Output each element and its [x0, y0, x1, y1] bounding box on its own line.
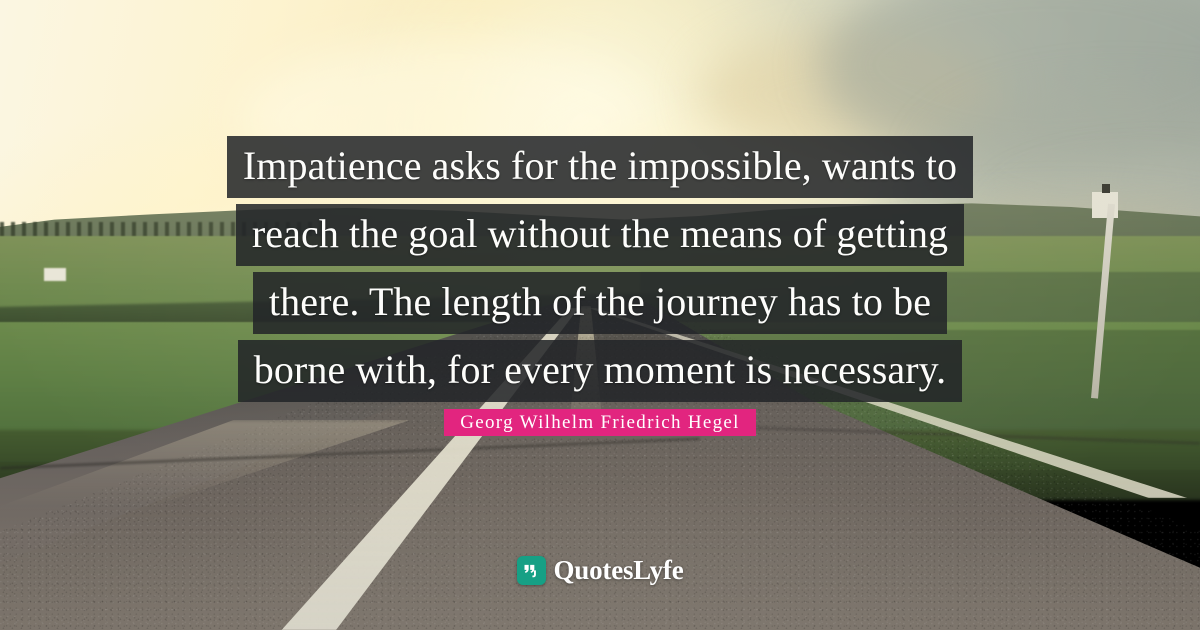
brand-name: QuotesLyfe [554, 556, 684, 585]
quote-card: Impatience asks for the impossible, want… [0, 0, 1200, 630]
quote-line: there. The length of the journey has to … [253, 272, 947, 334]
author-name: Georg Wilhelm Friedrich Hegel [444, 409, 755, 436]
author-attribution: Georg Wilhelm Friedrich Hegel [0, 409, 1200, 436]
quote-marks-icon [517, 556, 546, 585]
overlay-content: Impatience asks for the impossible, want… [0, 0, 1200, 630]
quote-text-block: Impatience asks for the impossible, want… [0, 136, 1200, 408]
quoteslyfe-logo[interactable]: QuotesLyfe [0, 556, 1200, 585]
quote-line: borne with, for every moment is necessar… [238, 340, 963, 402]
quote-line: Impatience asks for the impossible, want… [227, 136, 973, 198]
quote-line: reach the goal without the means of gett… [236, 204, 964, 266]
